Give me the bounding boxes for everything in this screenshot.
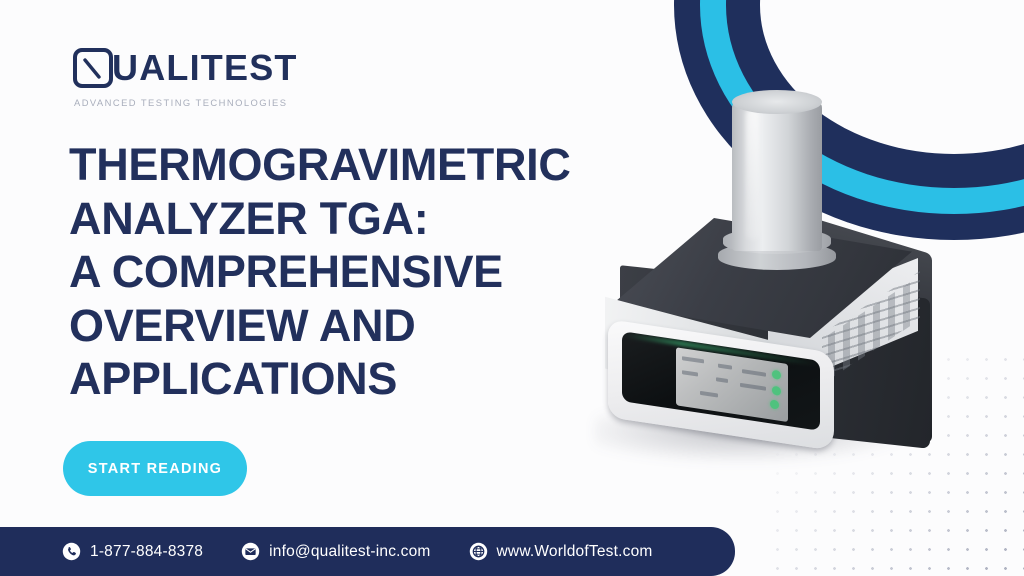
screen-status-indicator bbox=[772, 386, 781, 396]
footer-phone-text: 1-877-884-8378 bbox=[90, 543, 203, 561]
furnace-cap bbox=[732, 90, 822, 114]
start-reading-button[interactable]: START READING bbox=[63, 441, 247, 496]
qualitest-wordmark: UALITEST bbox=[112, 50, 298, 86]
footer-website[interactable]: www.WorldofTest.com bbox=[469, 542, 653, 561]
phone-icon bbox=[62, 542, 81, 561]
envelope-icon bbox=[241, 542, 260, 561]
headline-line-1: THERMOGRAVIMETRIC bbox=[69, 138, 669, 192]
headline-line-3: A COMPREHENSIVE bbox=[69, 245, 669, 299]
headline-line-4: OVERVIEW AND bbox=[69, 299, 669, 353]
qualitest-logo[interactable]: UALITEST ADVANCED TESTING TECHNOLOGIES bbox=[72, 47, 298, 108]
footer-email-text: info@qualitest-inc.com bbox=[269, 543, 430, 561]
page-title: THERMOGRAVIMETRIC ANALYZER TGA: A COMPRE… bbox=[69, 138, 669, 406]
marketing-banner: UALITEST ADVANCED TESTING TECHNOLOGIES T… bbox=[0, 0, 1024, 576]
furnace-highlight bbox=[746, 108, 760, 240]
qualitest-q-mark-icon bbox=[72, 47, 114, 89]
footer-email[interactable]: info@qualitest-inc.com bbox=[241, 542, 430, 561]
qualitest-tagline: ADVANCED TESTING TECHNOLOGIES bbox=[74, 97, 298, 108]
contact-footer-bar: 1-877-884-8378 info@qualitest-inc.com ww… bbox=[0, 527, 735, 576]
footer-phone[interactable]: 1-877-884-8378 bbox=[62, 542, 203, 561]
headline-line-5: APPLICATIONS bbox=[69, 352, 669, 406]
screen-status-indicator bbox=[770, 399, 779, 409]
screen-status-indicator bbox=[772, 370, 781, 380]
headline-line-2: ANALYZER TGA: bbox=[69, 192, 669, 246]
globe-icon bbox=[469, 542, 488, 561]
footer-website-text: www.WorldofTest.com bbox=[497, 543, 653, 561]
